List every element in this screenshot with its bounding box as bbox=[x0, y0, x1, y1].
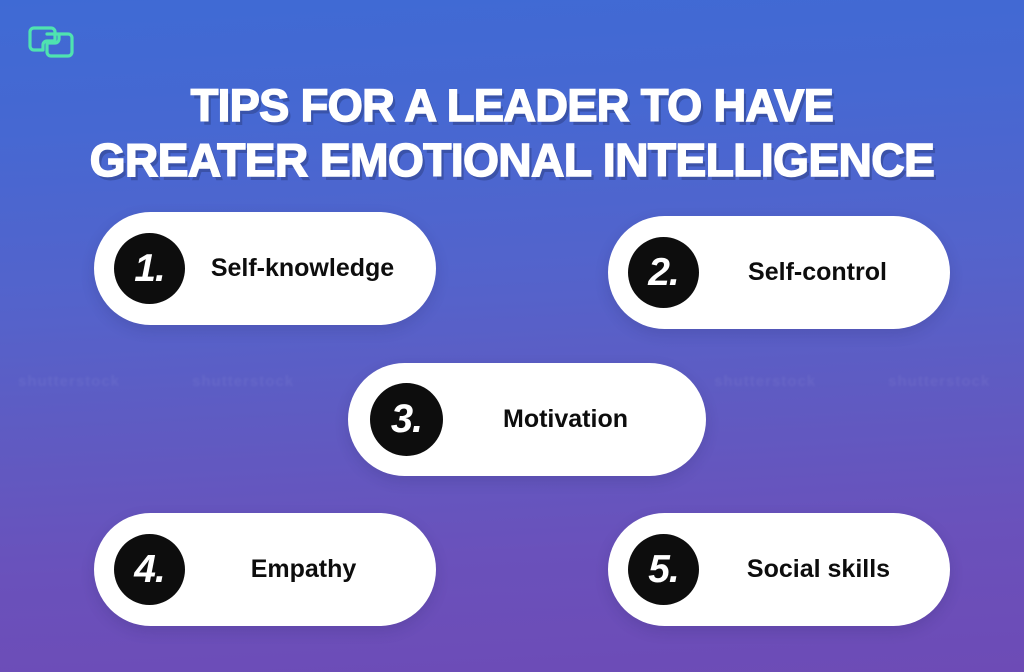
tip-number-badge-1: 1. bbox=[114, 233, 185, 304]
tip-number-badge-5: 5. bbox=[628, 534, 699, 605]
tip-label-3: Motivation bbox=[443, 405, 706, 434]
tip-label-5: Social skills bbox=[699, 555, 950, 584]
page-title-line-2: Greater Emotional Intelligence bbox=[0, 133, 1024, 187]
watermark-text: shutterstock bbox=[192, 373, 294, 390]
tip-item-5[interactable]: 5. Social skills bbox=[608, 513, 950, 626]
tip-item-4[interactable]: 4. Empathy bbox=[94, 513, 436, 626]
tip-label-2: Self-control bbox=[699, 258, 950, 287]
tip-label-4: Empathy bbox=[185, 555, 436, 584]
tip-label-1: Self-knowledge bbox=[185, 254, 436, 283]
tip-number-badge-2: 2. bbox=[628, 237, 699, 308]
tip-item-1[interactable]: 1. Self-knowledge bbox=[94, 212, 436, 325]
infographic-canvas: shutterstock shutterstock shutterstock s… bbox=[0, 0, 1024, 672]
watermark-text: shutterstock bbox=[888, 373, 990, 390]
overlapping-rounded-squares-icon bbox=[27, 19, 75, 65]
watermark-text: shutterstock bbox=[18, 373, 120, 390]
tip-number-badge-3: 3. bbox=[370, 383, 443, 456]
brand-logo bbox=[27, 19, 75, 65]
tip-item-3[interactable]: 3. Motivation bbox=[348, 363, 706, 476]
page-title: Tips for a Leader to Have Greater Emotio… bbox=[0, 79, 1024, 187]
page-title-line-1: Tips for a Leader to Have bbox=[0, 79, 1024, 133]
watermark-text: shutterstock bbox=[714, 373, 816, 390]
tip-number-badge-4: 4. bbox=[114, 534, 185, 605]
tip-item-2[interactable]: 2. Self-control bbox=[608, 216, 950, 329]
